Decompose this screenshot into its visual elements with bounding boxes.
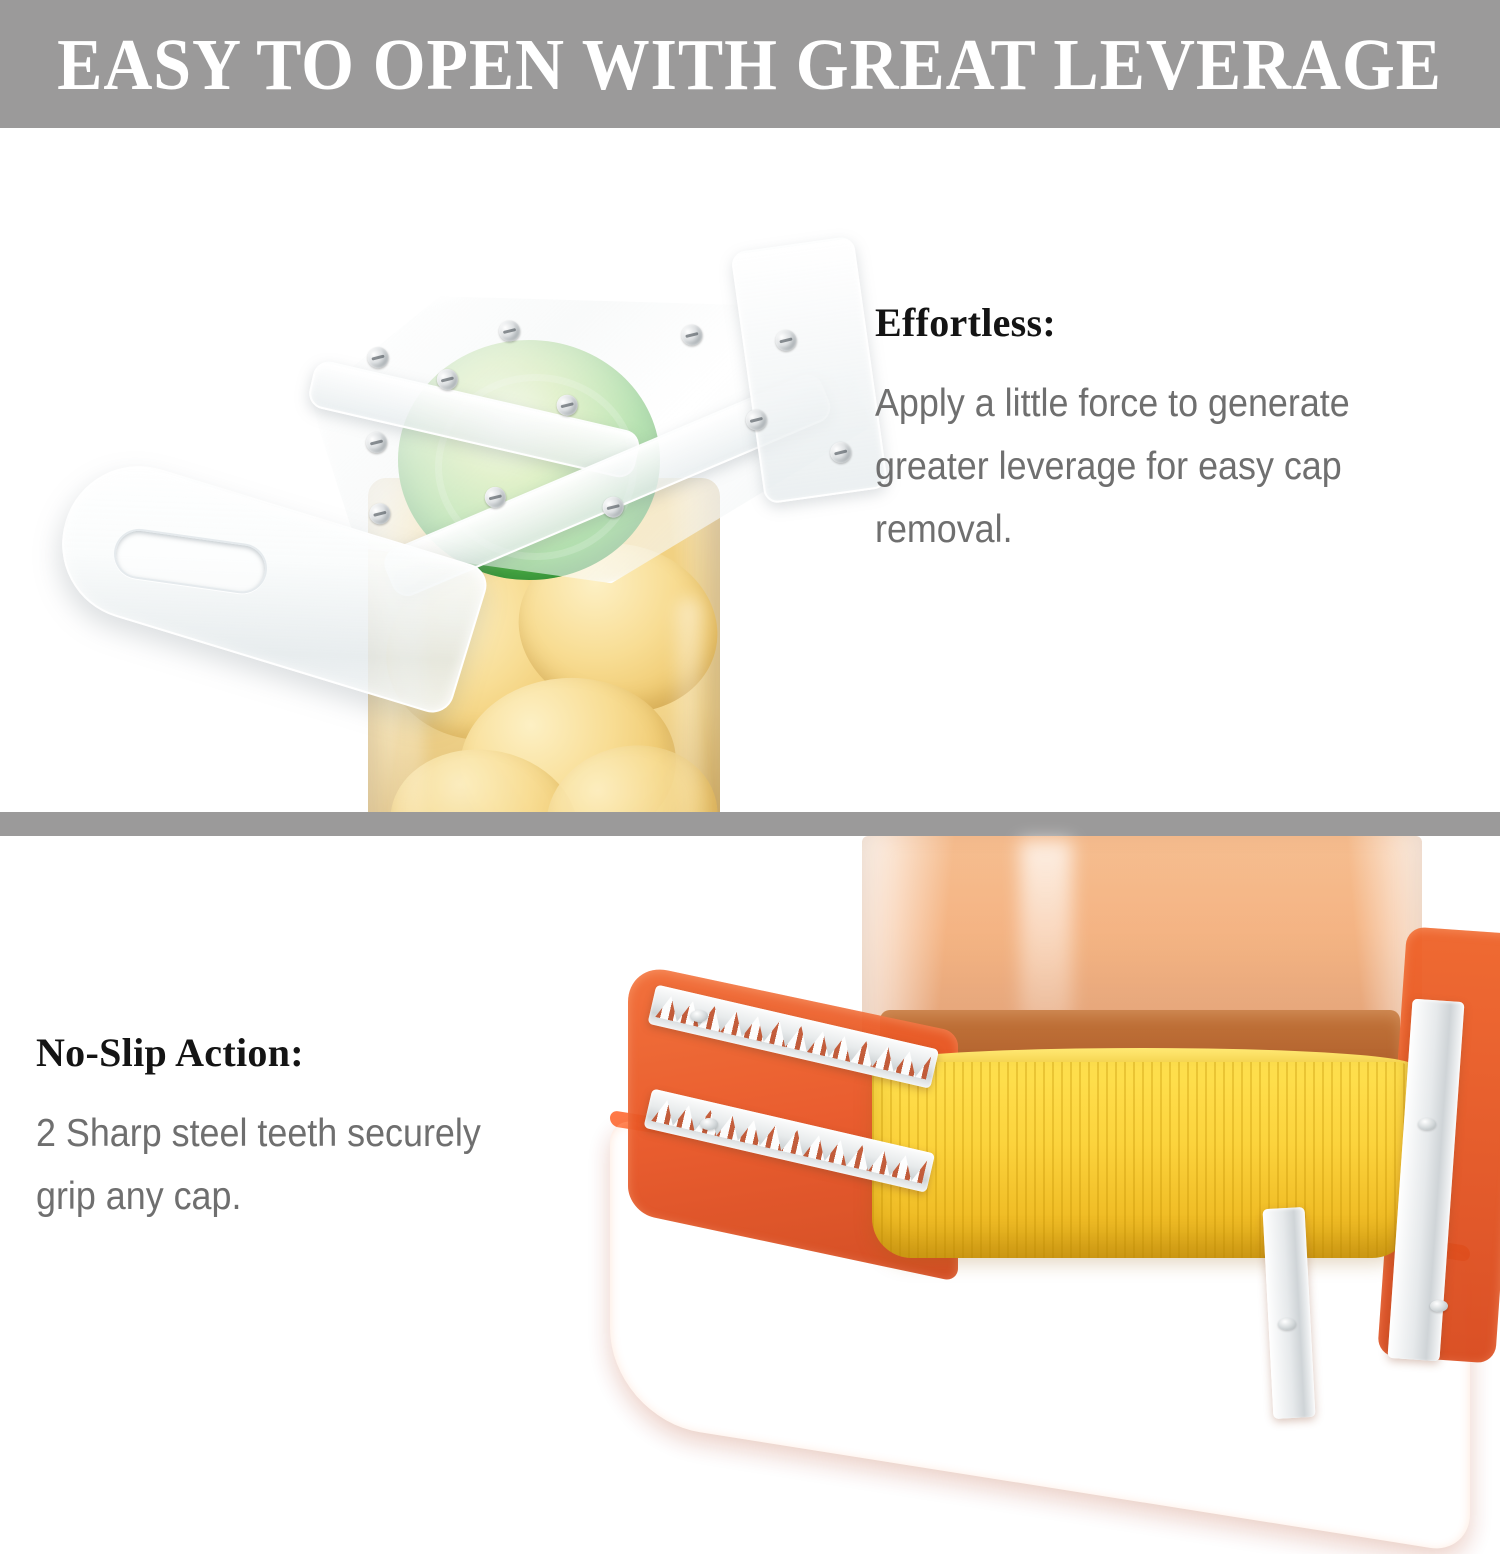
effortless-heading: Effortless: [875,300,1475,346]
rivet-icon [1418,1118,1436,1130]
header-banner: EASY TO OPEN WITH GREAT LEVERAGE [0,0,1500,128]
no-slip-text-block: No-Slip Action: 2 Sharp steel teeth secu… [36,1030,506,1228]
page-title: EASY TO OPEN WITH GREAT LEVERAGE [58,28,1443,101]
rivet-icon [690,1010,708,1022]
no-slip-heading: No-Slip Action: [36,1030,506,1076]
clear-jar-opener-tool [18,254,877,812]
yellow-ribbed-cap [872,1062,1412,1258]
rivet-icon [1430,1300,1448,1312]
section-divider [0,812,1500,836]
rivet-icon [700,1118,718,1130]
hanging-hole [111,526,270,597]
no-slip-body: 2 Sharp steel teeth securely grip any ca… [36,1102,503,1228]
effortless-text-block: Effortless: Apply a little force to gene… [875,300,1475,562]
effortless-body: Apply a little force to generate greater… [875,372,1471,562]
product-infographic: EASY TO OPEN WITH GREAT LEVERAGE [0,0,1500,1463]
rivet-icon [1278,1318,1296,1330]
